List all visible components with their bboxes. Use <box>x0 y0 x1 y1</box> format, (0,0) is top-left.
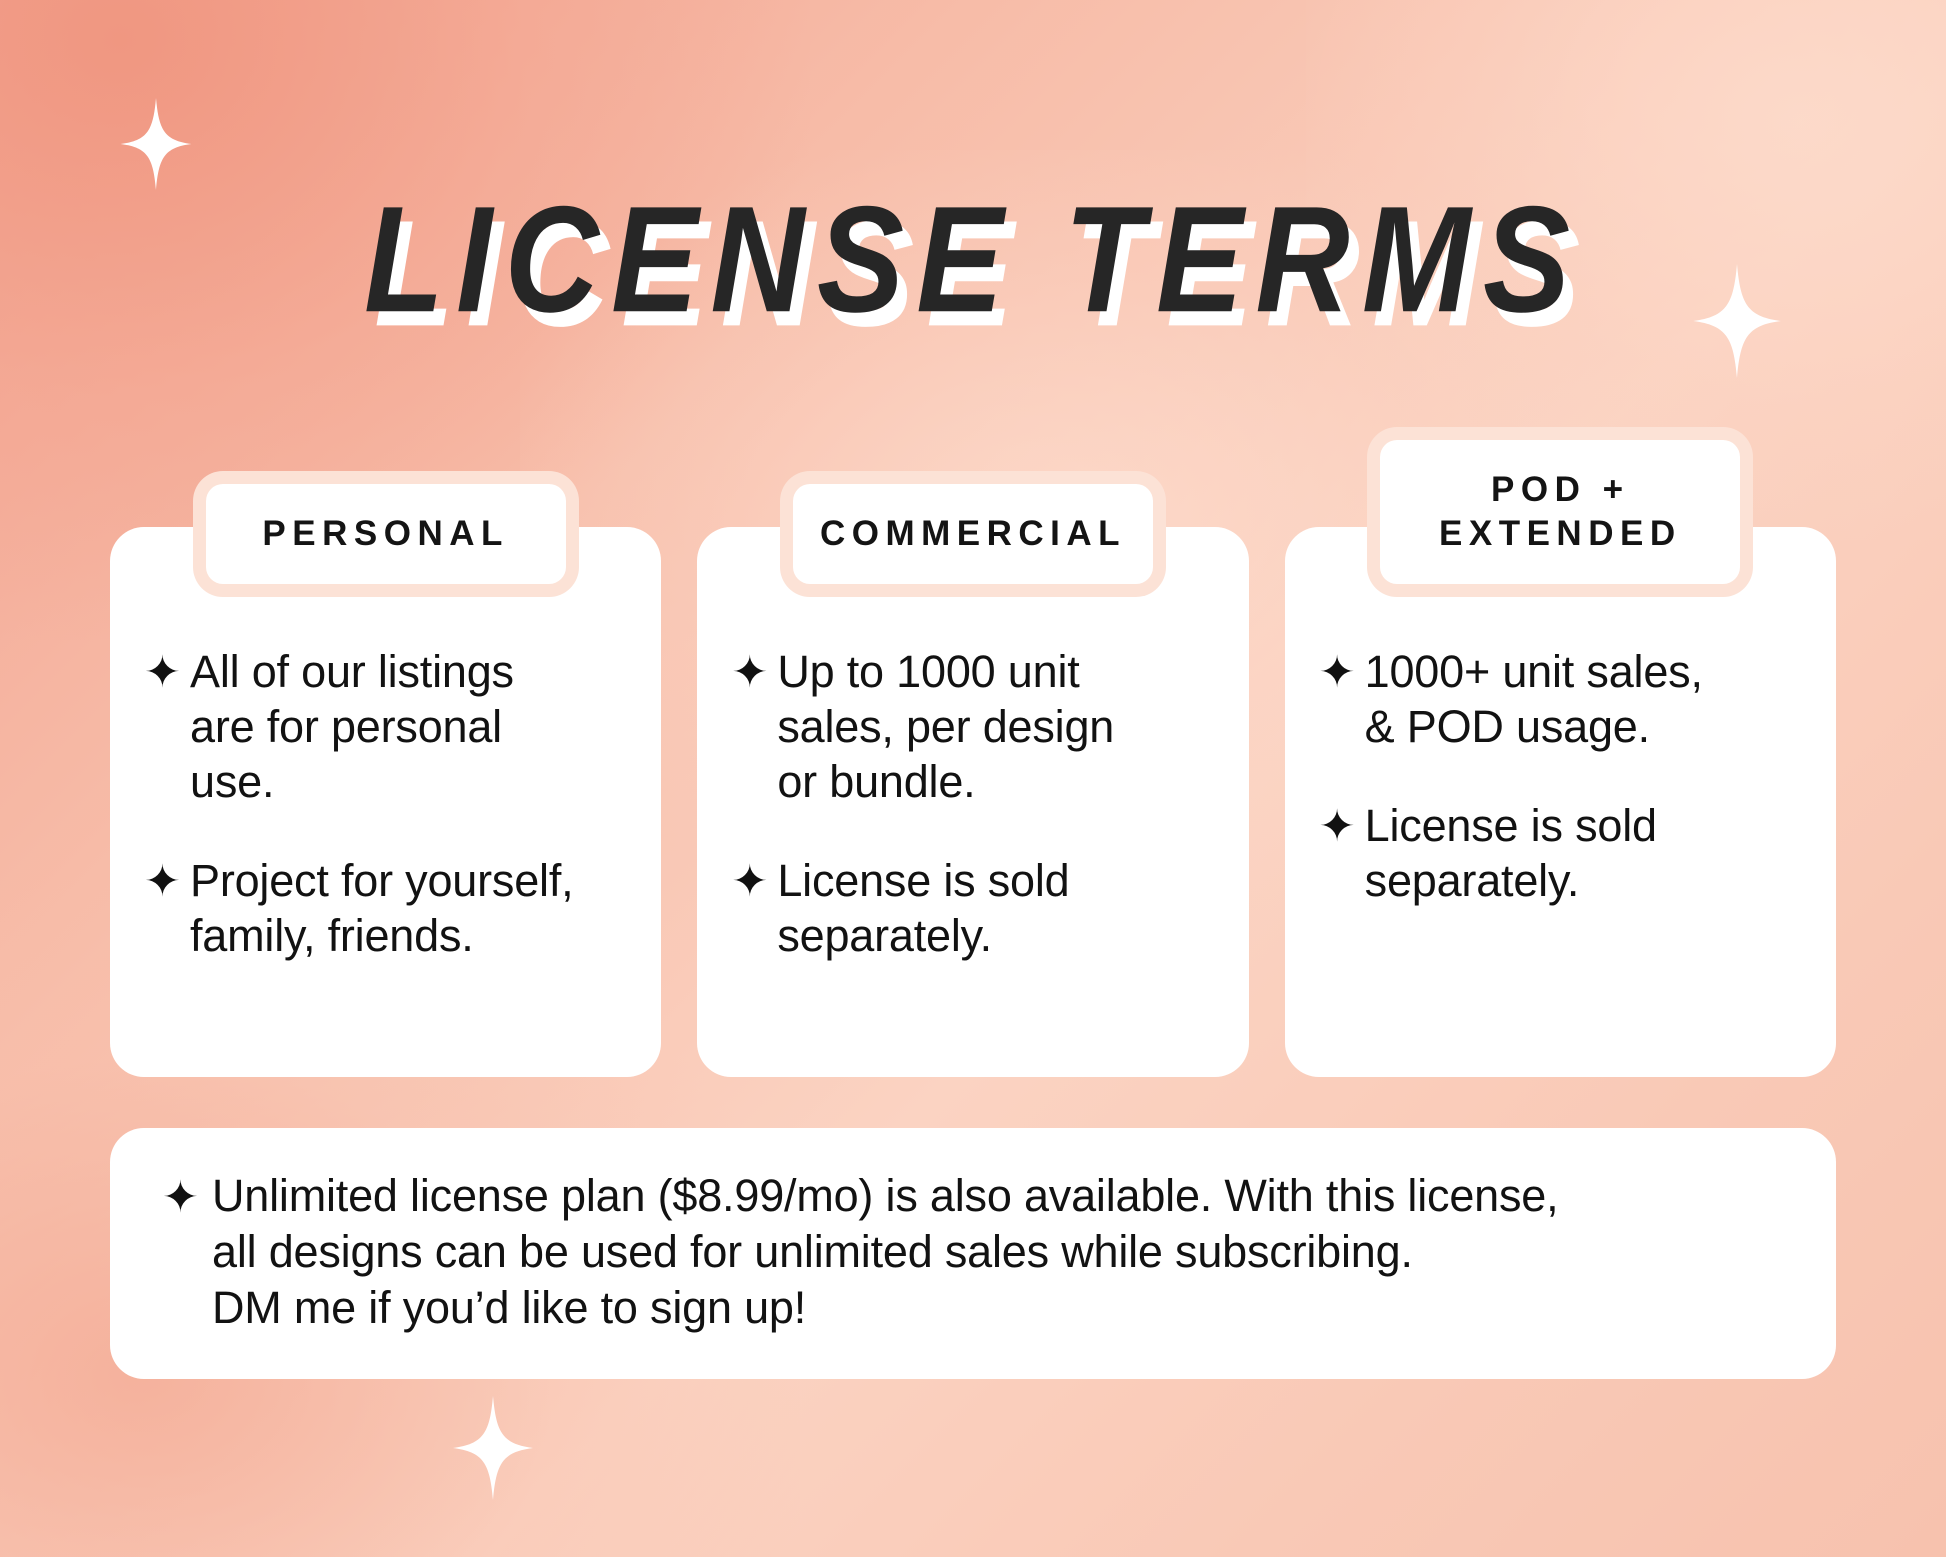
list-item-text: All of our listings are for personal use… <box>190 645 514 810</box>
sparkle-bullet-icon: ✦ <box>731 860 765 904</box>
sparkle-icon-right <box>1690 264 1784 378</box>
sparkle-bullet-icon: ✦ <box>1319 651 1353 695</box>
list-item-text: Up to 1000 unit sales, per design or bun… <box>777 645 1114 810</box>
license-column-commercial: COMMERCIAL ✦ Up to 1000 unit sales, per … <box>697 527 1248 1077</box>
list-item-text: License is sold separately. <box>777 854 1069 964</box>
license-header-personal[interactable]: PERSONAL <box>193 471 579 597</box>
license-card-personal: ✦ All of our listings are for personal u… <box>110 527 661 1077</box>
list-item: ✦ Project for yourself, family, friends. <box>144 854 627 964</box>
license-card-pod-extended: ✦ 1000+ unit sales, & POD usage. ✦ Licen… <box>1285 527 1836 1077</box>
sparkle-bullet-icon: ✦ <box>144 860 178 904</box>
list-item-text: License is sold separately. <box>1365 799 1657 909</box>
sparkle-bullet-icon: ✦ <box>162 1176 198 1220</box>
list-item: ✦ License is sold separately. <box>731 854 1214 964</box>
license-header-label: PERSONAL <box>262 512 508 556</box>
license-column-personal: PERSONAL ✦ All of our listings are for p… <box>110 527 661 1077</box>
banner-text: Unlimited license plan ($8.99/mo) is als… <box>212 1168 1558 1335</box>
license-bullet-list: ✦ All of our listings are for personal u… <box>144 645 627 963</box>
list-item: ✦ 1000+ unit sales, & POD usage. <box>1319 645 1802 755</box>
license-columns: PERSONAL ✦ All of our listings are for p… <box>110 527 1836 1077</box>
sparkle-icon-top-left <box>120 98 192 190</box>
unlimited-plan-banner: ✦ Unlimited license plan ($8.99/mo) is a… <box>110 1128 1836 1379</box>
list-item-text: Project for yourself, family, friends. <box>190 854 573 964</box>
license-header-pod-extended[interactable]: POD + EXTENDED <box>1367 427 1753 597</box>
license-terms-poster: LICENSE TERMS PERSONAL ✦ All of our list… <box>0 0 1946 1557</box>
sparkle-bullet-icon: ✦ <box>1319 805 1353 849</box>
list-item: ✦ License is sold separately. <box>1319 799 1802 909</box>
list-item: ✦ Up to 1000 unit sales, per design or b… <box>731 645 1214 810</box>
sparkle-bullet-icon: ✦ <box>731 651 765 695</box>
sparkle-bullet-icon: ✦ <box>144 651 178 695</box>
license-card-commercial: ✦ Up to 1000 unit sales, per design or b… <box>697 527 1248 1077</box>
sparkle-icon-bottom <box>452 1396 534 1500</box>
banner-row: ✦ Unlimited license plan ($8.99/mo) is a… <box>162 1168 1784 1335</box>
license-column-pod-extended: POD + EXTENDED ✦ 1000+ unit sales, & POD… <box>1285 527 1836 1077</box>
license-header-commercial[interactable]: COMMERCIAL <box>780 471 1166 597</box>
license-header-label: COMMERCIAL <box>820 512 1126 556</box>
list-item-text: 1000+ unit sales, & POD usage. <box>1365 645 1703 755</box>
license-bullet-list: ✦ Up to 1000 unit sales, per design or b… <box>731 645 1214 963</box>
license-header-label: POD + EXTENDED <box>1439 468 1682 556</box>
license-bullet-list: ✦ 1000+ unit sales, & POD usage. ✦ Licen… <box>1319 645 1802 909</box>
list-item: ✦ All of our listings are for personal u… <box>144 645 627 810</box>
